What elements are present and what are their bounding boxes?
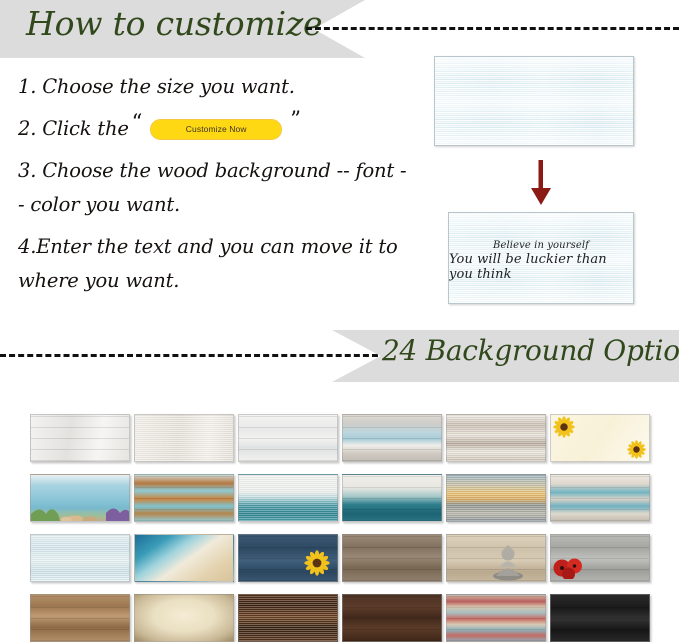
- plank-lines-overlay: [343, 475, 441, 521]
- customize-now-button[interactable]: Customize Now: [150, 119, 282, 140]
- wood-grain-overlay: [31, 535, 129, 581]
- sunflower-icon: [553, 416, 575, 438]
- instruction-steps: 1. Choose the size you want. 2. Click th…: [18, 70, 408, 306]
- background-thumbnail-black-wood[interactable]: [550, 594, 650, 642]
- buddha-statue-icon: [491, 541, 525, 581]
- step-1: 1. Choose the size you want.: [18, 70, 408, 104]
- plank-lines-overlay: [551, 475, 649, 521]
- plank-lines-overlay: [31, 415, 129, 461]
- blank-wood-sign-preview: [434, 56, 634, 146]
- step-3: 3. Choose the wood background -- font --…: [18, 154, 408, 222]
- background-thumbnail-cream-sunflower[interactable]: [550, 414, 650, 462]
- background-thumbnail-dark-walnut-wood[interactable]: [342, 594, 442, 642]
- sign-quote-line-2: You will be luckier than you think: [449, 252, 633, 282]
- background-thumbnail-cream-parchment[interactable]: [134, 594, 234, 642]
- plank-lines-overlay: [343, 535, 441, 581]
- sunflower-icon: [627, 440, 646, 459]
- background-options-title: 24 Background Options: [382, 334, 679, 367]
- background-thumbnail-cream-white-wood[interactable]: [134, 414, 234, 462]
- wood-grain-overlay: [447, 475, 545, 521]
- sign-quote-line-1: Believe in yourself: [493, 240, 589, 251]
- plank-lines-overlay: [343, 595, 441, 641]
- wood-grain-overlay: [239, 475, 337, 521]
- background-thumbnail-dark-brown-grunge[interactable]: [238, 594, 338, 642]
- background-thumbnail-light-brown-planks[interactable]: [30, 594, 130, 642]
- sunflower-icon: [304, 550, 330, 576]
- plank-lines-overlay: [239, 415, 337, 461]
- close-quote-mark: ”: [290, 112, 301, 126]
- coral-reef-icon: [31, 503, 129, 521]
- background-thumbnail-teal-blue-plank-strips[interactable]: [342, 414, 442, 462]
- sign-quote-text: Believe in yourself You will be luckier …: [449, 213, 633, 303]
- background-thumbnail-teal-ocean-wood[interactable]: [342, 474, 442, 522]
- background-thumbnail-pale-blue-wood[interactable]: [30, 534, 130, 582]
- bottom-dashed-divider: [0, 354, 378, 357]
- background-thumbnail-multicolor-pastel-planks[interactable]: [446, 594, 546, 642]
- background-thumbnail-navy-wood-sunflower[interactable]: [238, 534, 338, 582]
- wood-grain-overlay: [239, 595, 337, 641]
- background-thumbnail-underwater-coral-reef[interactable]: [30, 474, 130, 522]
- red-poppy-flowers-icon: [552, 553, 590, 579]
- background-thumbnail-beach-shoreline-aerial[interactable]: [134, 534, 234, 582]
- down-arrow-icon: [530, 160, 552, 206]
- step-2-prefix: 2. Click the: [18, 112, 129, 146]
- background-thumbnail-teal-ocean-foam[interactable]: [238, 474, 338, 522]
- background-thumbnail-teal-white-wood[interactable]: [550, 474, 650, 522]
- wood-grain-overlay: [447, 415, 545, 461]
- background-thumbnail-zen-buddha-wood[interactable]: [446, 534, 546, 582]
- background-thumbnail-brown-barn-wood[interactable]: [342, 534, 442, 582]
- plank-lines-overlay: [31, 595, 129, 641]
- background-thumbnail-golden-sunset-seascape[interactable]: [446, 474, 546, 522]
- background-options-grid: [30, 414, 650, 642]
- customized-wood-sign-preview: Believe in yourself You will be luckier …: [448, 212, 634, 304]
- plank-lines-overlay: [447, 595, 545, 641]
- background-thumbnail-gray-wood-red-poppies[interactable]: [550, 534, 650, 582]
- page-title: How to customize: [26, 4, 322, 43]
- open-quote-mark: “: [132, 112, 143, 132]
- step-4: 4.Enter the text and you can move it to …: [18, 230, 408, 298]
- top-dashed-divider: [306, 27, 679, 30]
- wood-texture: [435, 57, 633, 145]
- plank-lines-overlay: [135, 475, 233, 521]
- plank-lines-overlay: [551, 595, 649, 641]
- background-thumbnail-orange-teal-distressed[interactable]: [134, 474, 234, 522]
- step-2: 2. Click the “ Customize Now ”: [18, 112, 408, 146]
- background-thumbnail-white-wood-blue-accent[interactable]: [238, 414, 338, 462]
- background-thumbnail-white-distressed-wood[interactable]: [30, 414, 130, 462]
- wood-grain-overlay: [135, 415, 233, 461]
- background-thumbnail-weathered-gray-brown[interactable]: [446, 414, 546, 462]
- plank-lines-overlay: [343, 415, 441, 461]
